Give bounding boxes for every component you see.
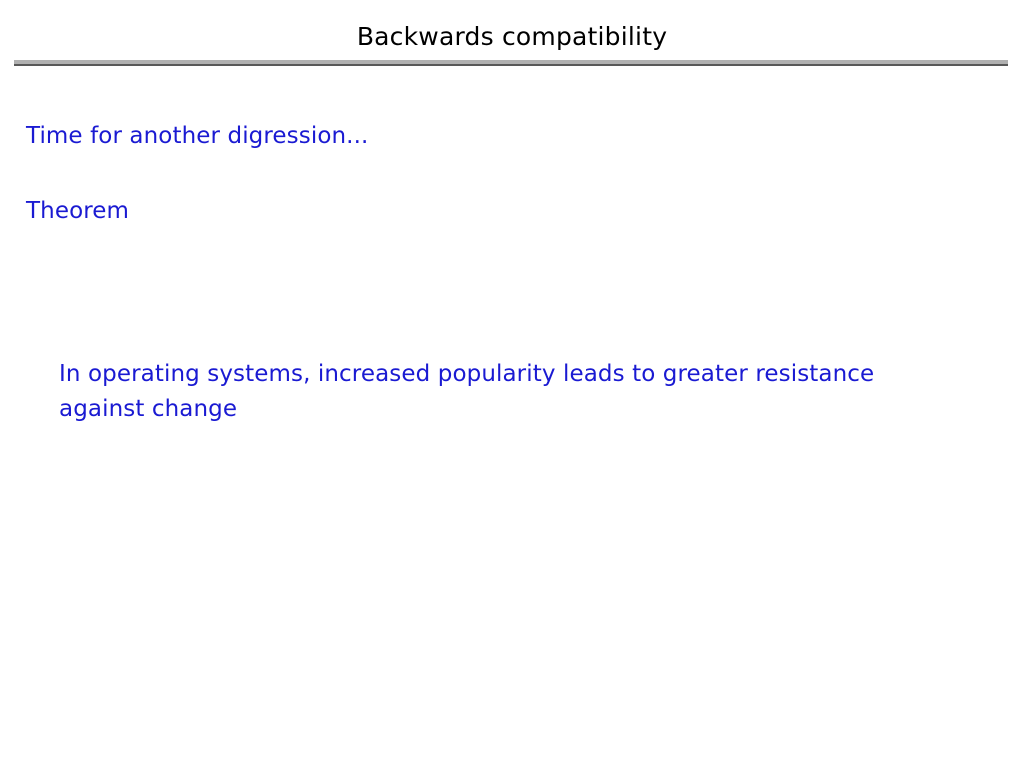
body-line-digression: Time for another digression... xyxy=(26,121,368,151)
slide-body: Time for another digression... Theorem I… xyxy=(0,0,1024,768)
slide: Backwards compatibility Time for another… xyxy=(0,0,1024,768)
theorem-statement: In operating systems, increased populari… xyxy=(59,357,889,427)
body-line-theorem: Theorem xyxy=(26,196,129,226)
